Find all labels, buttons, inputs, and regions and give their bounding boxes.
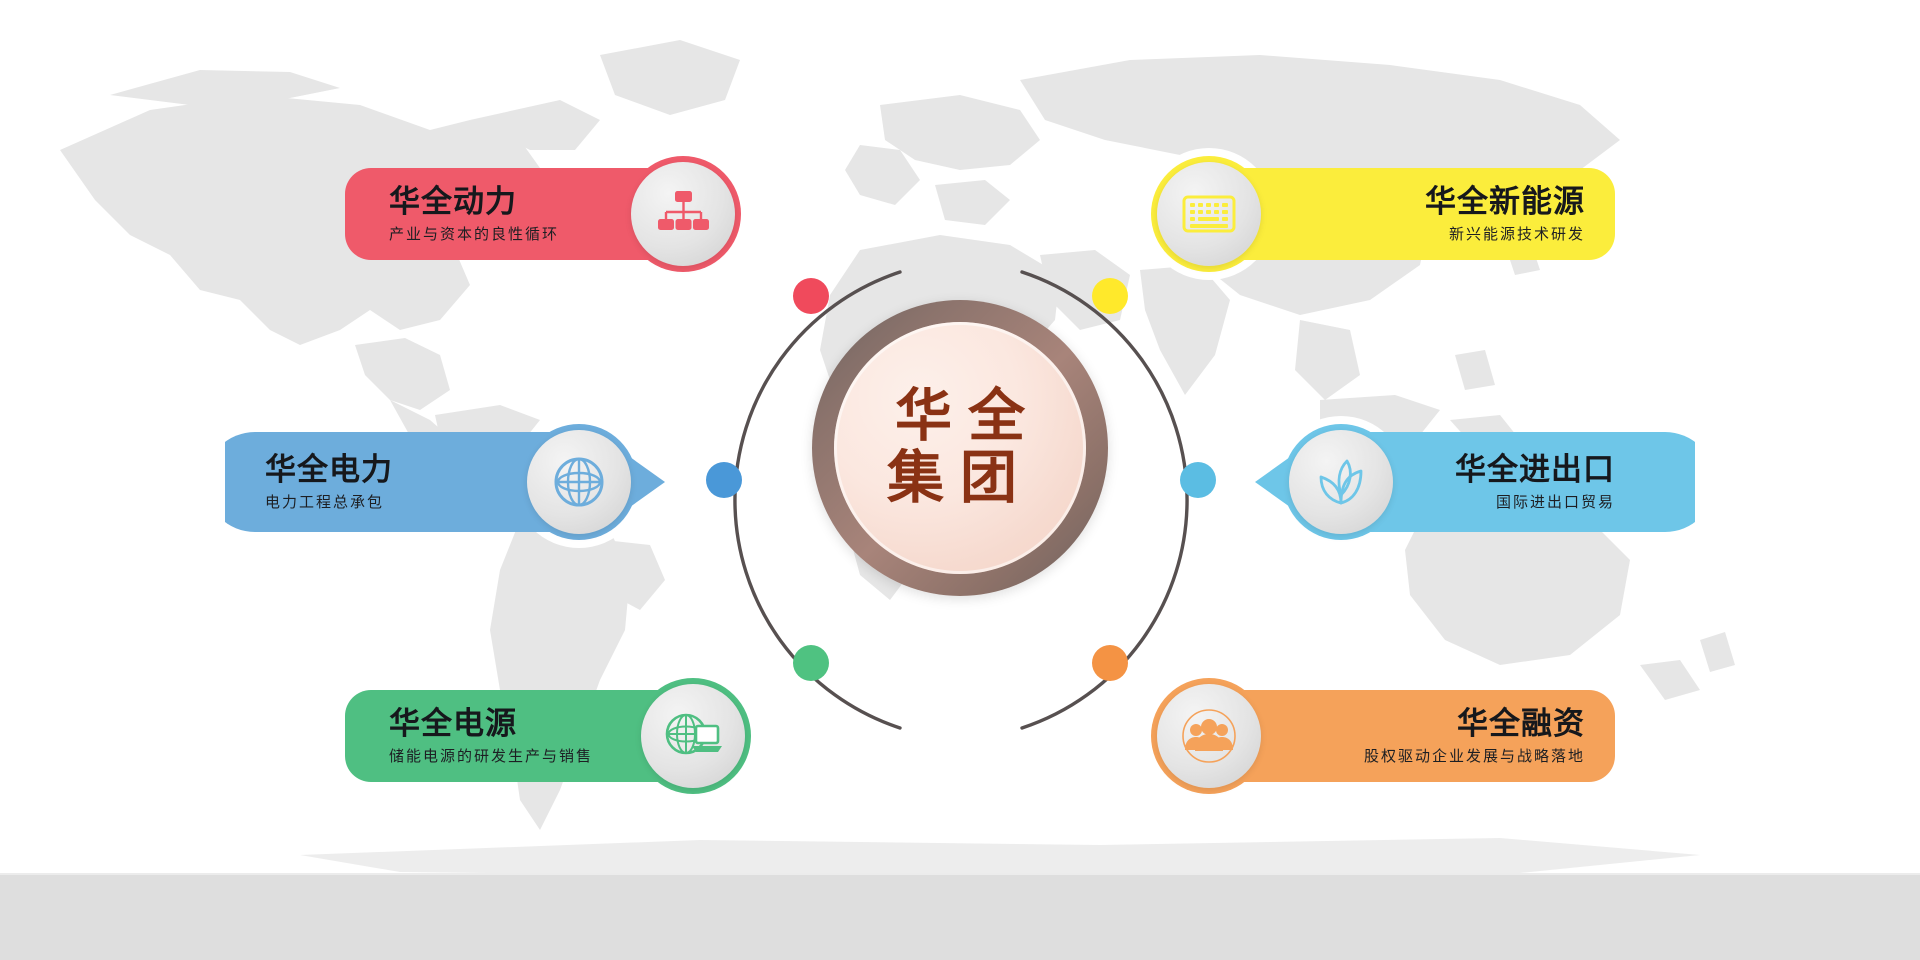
badge-new-energy[interactable] [1157, 162, 1261, 266]
card-title-power-dynamics: 华全动力 [389, 185, 697, 219]
card-title-power-source: 华全电源 [389, 707, 707, 741]
connector-dot-electric-power [706, 462, 742, 498]
center-emblem-title: 华全集团 [855, 386, 1065, 509]
card-subtitle-power-dynamics: 产业与资本的良性循环 [389, 225, 697, 243]
center-emblem-inner: 华全集团 [834, 322, 1086, 574]
card-import-export[interactable]: 华全进出口 国际进出口贸易 [1235, 432, 1695, 532]
card-subtitle-new-energy: 新兴能源技术研发 [1449, 225, 1585, 243]
card-electric-power[interactable]: 华全电力 电力工程总承包 [225, 432, 685, 532]
card-subtitle-financing: 股权驱动企业发展与战略落地 [1364, 747, 1585, 765]
badge-import-export[interactable] [1289, 430, 1393, 534]
badge-financing[interactable] [1157, 684, 1261, 788]
card-subtitle-import-export: 国际进出口贸易 [1496, 493, 1615, 511]
people-icon [1179, 706, 1239, 766]
card-power-source[interactable]: 华全电源 储能电源的研发生产与销售 [345, 690, 765, 782]
center-emblem: 华全集团 [812, 300, 1108, 596]
infographic-canvas: 华全动力 产业与资本的良性循环 华全新能源 新兴能源技术研发 [0, 0, 1920, 960]
connector-dot-new-energy [1092, 278, 1128, 314]
connector-dot-power-source [793, 645, 829, 681]
card-subtitle-power-source: 储能电源的研发生产与销售 [389, 747, 707, 765]
connector-dot-financing [1092, 645, 1128, 681]
connector-dot-power-dynamics [793, 278, 829, 314]
keyboard-icon [1182, 191, 1236, 237]
card-title-electric-power: 华全电力 [265, 453, 585, 487]
card-financing[interactable]: 华全融资 股权驱动企业发展与战略落地 [1165, 690, 1615, 782]
card-title-new-energy: 华全新能源 [1425, 185, 1585, 219]
leaf-icon [1313, 455, 1369, 509]
card-title-financing: 华全融资 [1457, 707, 1585, 741]
card-title-import-export: 华全进出口 [1455, 453, 1615, 487]
bottom-strip [0, 873, 1920, 960]
card-new-energy[interactable]: 华全新能源 新兴能源技术研发 [1165, 168, 1615, 260]
card-subtitle-electric-power: 电力工程总承包 [265, 493, 585, 511]
connector-dot-import-export [1180, 462, 1216, 498]
card-power-dynamics[interactable]: 华全动力 产业与资本的良性循环 [345, 168, 755, 260]
